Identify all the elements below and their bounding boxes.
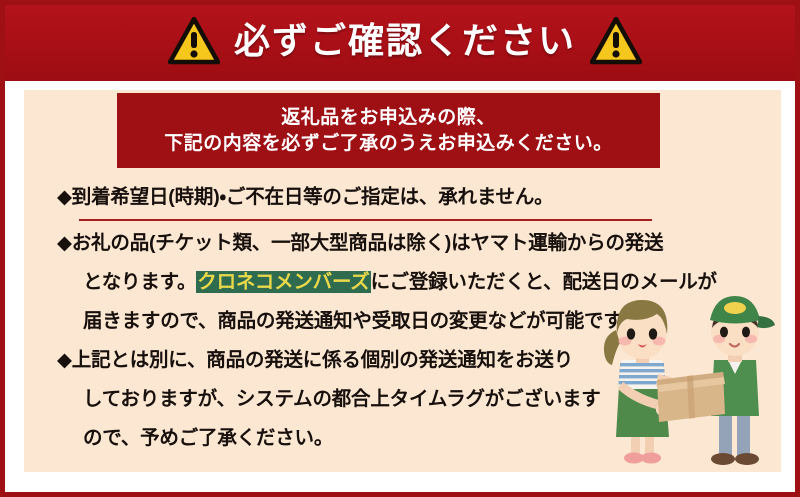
notice-panel: 返礼品をお申込みの際、 下記の内容を必ずご了承のうえお申込みください。 ◆到着希… <box>24 90 781 472</box>
notice-item: ◆到着希望日(時期)・ご不在日等のご指定は、承れません。 <box>57 178 757 217</box>
sub-banner-line-2: 下記の内容を必ずご了承のうえお申込みください。 <box>164 132 613 156</box>
notice-line-text: しておりますが、システムの都合上タイムラグがございます <box>83 388 601 410</box>
notice-line-text: ので、予めご了承ください。 <box>83 427 333 449</box>
notice-item: ◆お礼の品(チケット類、一部大型商品は除く)はヤマト運輸からの発送 となります。… <box>57 224 757 341</box>
notice-banner: 必ずご確認ください 返礼品をお申込みの際、 下記の内容を必ずご了承のうえお申込み… <box>0 0 800 497</box>
notice-line-text: にご登録いただくと、配送日のメールが <box>371 271 717 293</box>
warning-triangle-icon <box>590 17 642 65</box>
section-divider <box>79 219 652 221</box>
notice-line: 届きますので、商品の発送通知や受取日の変更などが可能です。 <box>57 302 757 341</box>
warning-triangle-icon <box>168 17 220 65</box>
sub-banner: 返礼品をお申込みの際、 下記の内容を必ずご了承のうえお申込みください。 <box>117 93 660 168</box>
bullet-marker: ◆ <box>57 232 72 254</box>
notice-line-text: となります。 <box>83 271 196 293</box>
kuroneko-members-highlight: クロネコメンバーズ <box>196 271 370 293</box>
notice-line: ◆お礼の品(チケット類、一部大型商品は除く)はヤマト運輸からの発送 <box>57 224 757 263</box>
notice-line: ◆到着希望日(時期)・ご不在日等のご指定は、承れません。 <box>57 178 757 217</box>
notice-line: となります。クロネコメンバーズにご登録いただくと、配送日のメールが <box>57 263 757 302</box>
sub-banner-line-1: 返礼品をお申込みの際、 <box>281 106 496 130</box>
notice-line-text: お礼の品(チケット類、一部大型商品は除く)はヤマト運輸からの発送 <box>72 232 664 254</box>
notice-line: ので、予めご了承ください。 <box>57 419 757 458</box>
bullet-marker: ◆ <box>57 186 72 208</box>
header-banner: 必ずご確認ください <box>0 0 800 81</box>
notice-item: ◆上記とは別に、商品の発送に係る個別の発送通知をお送り しておりますが、システム… <box>57 341 757 458</box>
page-title: 必ずご確認ください <box>234 23 576 59</box>
notice-line-text: 届きますので、商品の発送通知や受取日の変更などが可能です。 <box>83 310 640 332</box>
notice-body: ◆到着希望日(時期)・ご不在日等のご指定は、承れません。 ◆お礼の品(チケット類… <box>57 178 757 458</box>
bullet-marker: ◆ <box>57 349 72 371</box>
notice-line: ◆上記とは別に、商品の発送に係る個別の発送通知をお送り <box>57 341 757 380</box>
notice-line: しておりますが、システムの都合上タイムラグがございます <box>57 380 757 419</box>
notice-line-text: 到着希望日(時期)・ご不在日等のご指定は、承れません。 <box>72 186 554 208</box>
notice-line-text: 上記とは別に、商品の発送に係る個別の発送通知をお送り <box>72 349 573 371</box>
